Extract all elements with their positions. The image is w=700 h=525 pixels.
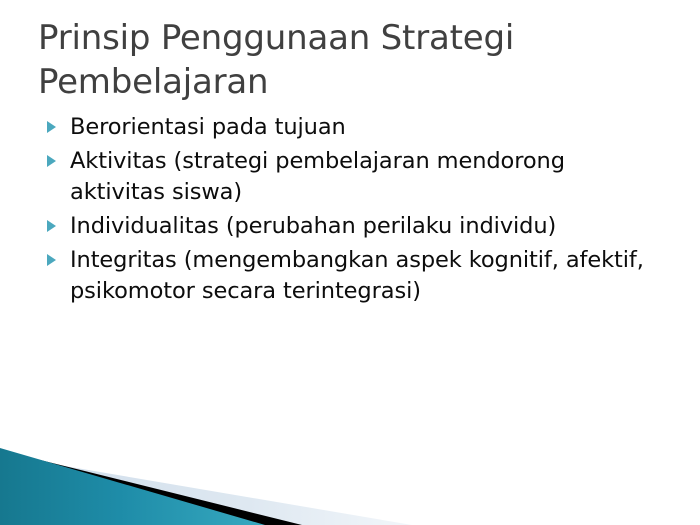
list-item-label: Berorientasi pada tujuan — [70, 114, 346, 140]
bottom-diagonal-banner — [0, 425, 700, 525]
list-item: Berorientasi pada tujuan — [44, 112, 656, 143]
triangle-right-bullet-icon — [47, 155, 56, 167]
list-item: Integritas (mengembangkan aspek kognitif… — [44, 245, 656, 307]
presentation-slide: Prinsip Penggunaan Strategi Pembelajaran… — [0, 0, 700, 525]
triangle-right-bullet-icon — [47, 254, 56, 266]
bullet-list: Berorientasi pada tujuan Aktivitas (stra… — [44, 112, 656, 310]
list-item: Individualitas (perubahan perilaku indiv… — [44, 211, 656, 242]
list-item-label: Aktivitas (strategi pembelajaran mendoro… — [70, 148, 565, 205]
black-stripe-shape — [0, 450, 302, 525]
list-item-label: Integritas (mengembangkan aspek kognitif… — [70, 247, 644, 304]
teal-wedge-shape — [0, 448, 265, 525]
pale-band-shape — [0, 455, 412, 525]
triangle-right-bullet-icon — [47, 121, 56, 133]
list-item-label: Individualitas (perubahan perilaku indiv… — [70, 213, 556, 239]
triangle-right-bullet-icon — [47, 220, 56, 232]
list-item: Aktivitas (strategi pembelajaran mendoro… — [44, 146, 656, 208]
slide-title: Prinsip Penggunaan Strategi Pembelajaran — [38, 16, 638, 104]
